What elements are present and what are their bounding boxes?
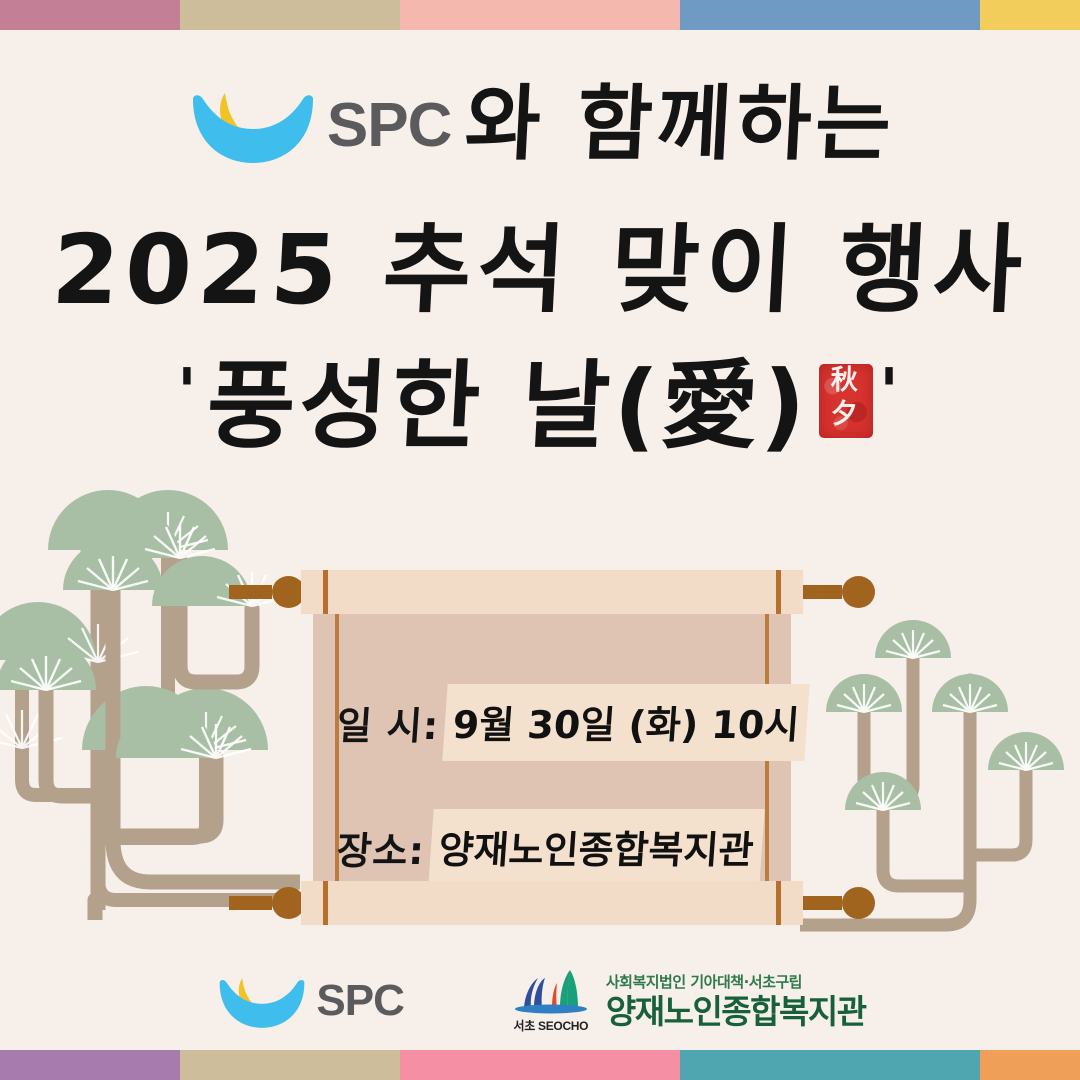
scroll-tie-right xyxy=(776,570,781,614)
scroll-knob-bar xyxy=(799,585,842,599)
event-scroll-banner: 일 시: 9월 30일 (화) 10시 장소: 양재노인종합복지관 xyxy=(267,570,837,925)
scroll-rod-top xyxy=(301,570,803,614)
bottom-strip-segment-2 xyxy=(180,1050,400,1080)
spc-logo-header: SPC xyxy=(185,85,451,165)
yangjae-subtitle: 사회복지법인 기아대책·서초구립 xyxy=(606,975,866,990)
top-strip-segment-4 xyxy=(680,0,980,30)
top-strip-segment-2 xyxy=(180,0,400,30)
scroll-knob-bottom-left xyxy=(229,886,305,920)
title-line-1-text: 와 함께하는 xyxy=(463,84,897,166)
spc-bowl-icon xyxy=(214,972,310,1030)
scroll-tie-right xyxy=(776,881,781,925)
poster-header: SPC 와 함께하는 2025 추석 맞이 행사 ' 풍성한 날(愛) 秋 夕 … xyxy=(0,0,1080,500)
top-strip-segment-5 xyxy=(980,0,1080,30)
top-strip-segment-1 xyxy=(0,0,180,30)
event-location-value: 양재노인종합복지관 xyxy=(428,809,764,886)
spc-bowl-icon xyxy=(185,85,321,165)
seocho-mark: 서초 SEOCHO xyxy=(508,968,594,1034)
scroll-tie-left xyxy=(323,570,328,614)
scroll-knob-top-right xyxy=(799,575,875,609)
chuseok-seal-stamp: 秋 夕 xyxy=(819,364,873,438)
scroll-knob-ball xyxy=(842,576,875,608)
quote-open: ' xyxy=(177,358,201,428)
seal-char-top: 秋 xyxy=(819,364,873,398)
pine-tree-left xyxy=(0,490,300,920)
yangjae-title: 양재노인종합복지관 xyxy=(606,995,866,1028)
scroll-knob-bar xyxy=(229,585,272,599)
bottom-strip-segment-3 xyxy=(400,1050,680,1080)
yangjae-welfare-center-logo: 서초 SEOCHO 사회복지법인 기아대책·서초구립 양재노인종합복지관 xyxy=(508,968,866,1034)
quote-close: ' xyxy=(879,358,903,428)
event-date-label: 일 시: xyxy=(335,695,447,750)
top-color-strip xyxy=(0,0,1080,30)
title-line-2: 2025 추석 맞이 행사 xyxy=(0,222,1080,318)
bottom-strip-segment-1 xyxy=(0,1050,180,1080)
title-line-1: SPC 와 함께하는 xyxy=(0,84,1080,166)
scroll-knob-top-left xyxy=(229,575,305,609)
spc-logo-footer: SPC xyxy=(214,972,403,1030)
scroll-rod-bottom xyxy=(301,881,803,925)
seocho-mountain-icon xyxy=(508,968,594,1016)
title-line-3-text: 풍성한 날(愛) xyxy=(204,358,811,454)
yangjae-text-block: 사회복지법인 기아대책·서초구립 양재노인종합복지관 xyxy=(606,975,866,1028)
scroll-knob-ball xyxy=(842,887,875,919)
seocho-caption: 서초 SEOCHO xyxy=(513,1017,588,1034)
poster-footer-logos: SPC 서초 SEOCHO 사회복지법인 기아대책·서초구립 양재노인종합복지관 xyxy=(0,968,1080,1034)
event-date-value: 9월 30일 (화) 10시 xyxy=(443,684,811,761)
poster-canvas: SPC 와 함께하는 2025 추석 맞이 행사 ' 풍성한 날(愛) 秋 夕 … xyxy=(0,0,1080,1080)
top-strip-segment-3 xyxy=(400,0,680,30)
scroll-knob-bar xyxy=(229,896,272,910)
bottom-strip-segment-4 xyxy=(680,1050,980,1080)
event-detail-row-datetime: 일 시: 9월 30일 (화) 10시 xyxy=(337,684,781,761)
scroll-tie-left xyxy=(323,881,328,925)
scroll-knob-bottom-right xyxy=(799,886,875,920)
spc-wordmark-header: SPC xyxy=(327,90,451,161)
spc-wordmark-footer: SPC xyxy=(316,976,403,1026)
event-details: 일 시: 9월 30일 (화) 10시 장소: 양재노인종합복지관 xyxy=(337,684,781,886)
event-detail-row-location: 장소: 양재노인종합복지관 xyxy=(337,809,781,886)
event-location-label: 장소: xyxy=(335,820,433,875)
scroll-paper: 일 시: 9월 30일 (화) 10시 장소: 양재노인종합복지관 xyxy=(313,602,791,894)
bottom-color-strip xyxy=(0,1050,1080,1080)
scroll-knob-bar xyxy=(799,896,842,910)
seal-char-bottom: 夕 xyxy=(819,398,873,432)
bottom-strip-segment-5 xyxy=(980,1050,1080,1080)
title-line-3: ' 풍성한 날(愛) 秋 夕 ' xyxy=(0,358,1080,454)
